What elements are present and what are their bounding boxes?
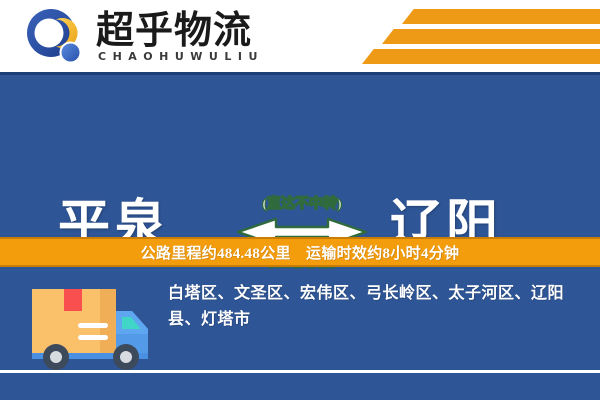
delivery-truck-icon (22, 281, 154, 371)
route-panel: 平泉 (直达不中转) 【往返运输】 辽阳 (0, 75, 600, 237)
road-line (0, 370, 600, 373)
distance-duration-text: 公路里程约484.48公里 运输时效约8小时4分钟 (141, 242, 460, 263)
covered-districts-text: 白塔区、文圣区、宏伟区、弓长岭区、太子河区、辽阳县、灯塔市 (168, 281, 588, 333)
circle-q-logo-icon (26, 8, 84, 66)
coverage-panel: 白塔区、文圣区、宏伟区、弓长岭区、太子河区、辽阳县、灯塔市 (0, 269, 600, 400)
brand-name-en: CHAOHUWULIU (98, 50, 264, 63)
stripe-3 (362, 49, 600, 64)
orange-stripes-decoration (340, 0, 600, 72)
header-bar: 超乎物流 CHAOHUWULIU (0, 0, 600, 72)
stripe-1 (402, 9, 600, 24)
stripe-2 (382, 29, 600, 44)
distance-duration-bar: 公路里程约484.48公里 运输时效约8小时4分钟 (0, 237, 600, 267)
brand-name-cn: 超乎物流 (96, 8, 252, 52)
direct-route-note: (直达不中转) (232, 193, 372, 213)
logistics-route-poster: 超乎物流 CHAOHUWULIU 平泉 (直达不中转) 【往返运输】 辽阳 公路… (0, 0, 600, 400)
